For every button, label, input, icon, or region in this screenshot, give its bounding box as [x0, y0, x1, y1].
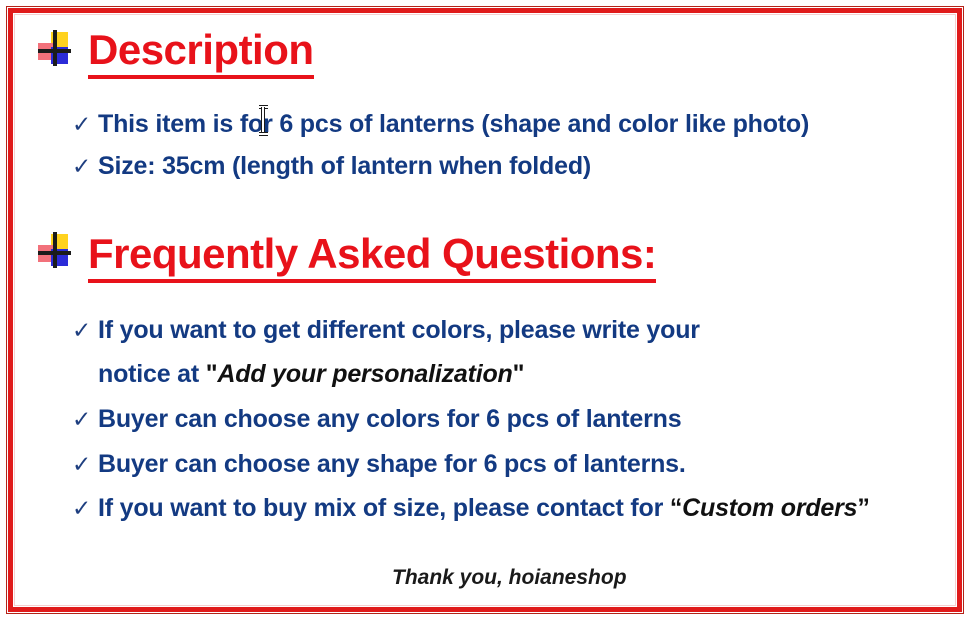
text-ibeam-cursor [259, 104, 268, 137]
faq-item-1-continuation-prefix: notice at [98, 360, 206, 388]
cursor-bottom-cap [259, 133, 268, 135]
check-icon: ✓ [72, 451, 98, 478]
faq-item-1-continuation: notice at "Add your personalization" [72, 360, 524, 389]
description-item-1-text: This item is for 6 pcs of lanterns (shap… [98, 110, 809, 138]
faq-item-1-emphasis: Add your personalization [217, 360, 512, 388]
description-item-2-text: Size: 35cm (length of lantern when folde… [98, 152, 591, 180]
faq-item-4-emphasis: Custom orders [682, 494, 857, 522]
check-icon: ✓ [72, 153, 98, 180]
description-heading-text: Description [88, 26, 314, 79]
description-heading: Description [88, 26, 314, 74]
check-icon: ✓ [72, 406, 98, 433]
faq-item-2: ✓Buyer can choose any colors for 6 pcs o… [72, 405, 681, 434]
description-item-1: ✓This item is for 6 pcs of lanterns (sha… [72, 110, 809, 139]
faq-heading: Frequently Asked Questions: [88, 230, 656, 278]
quote-open: “ [670, 494, 682, 522]
check-icon: ✓ [72, 495, 98, 522]
faq-heading-text: Frequently Asked Questions: [88, 230, 656, 283]
pinwheel-vertical-bar [53, 232, 57, 268]
faq-item-3: ✓Buyer can choose any shape for 6 pcs of… [72, 450, 686, 479]
cursor-beam [262, 107, 264, 134]
pinwheel-icon-faq [36, 232, 72, 268]
quote-open: " [206, 360, 218, 388]
faq-item-2-text: Buyer can choose any colors for 6 pcs of… [98, 405, 681, 433]
listing-description-image: Description ✓This item is for 6 pcs of l… [0, 0, 970, 620]
content-area: Description ✓This item is for 6 pcs of l… [0, 0, 970, 620]
quote-close: " [513, 360, 525, 388]
pinwheel-vertical-bar [53, 30, 57, 66]
pinwheel-horizontal-bar [38, 251, 71, 255]
faq-item-4-text: If you want to buy mix of size, please c… [98, 494, 670, 522]
faq-item-4: ✓If you want to buy mix of size, please … [72, 494, 870, 523]
faq-item-1: ✓If you want to get different colors, pl… [72, 316, 700, 345]
faq-item-3-text: Buyer can choose any shape for 6 pcs of … [98, 450, 686, 478]
check-icon: ✓ [72, 111, 98, 138]
footer-thank-you: Thank you, hoianeshop [392, 566, 627, 590]
pinwheel-horizontal-bar [38, 49, 71, 53]
check-icon: ✓ [72, 317, 98, 344]
description-item-2: ✓Size: 35cm (length of lantern when fold… [72, 152, 591, 181]
faq-item-1-text: If you want to get different colors, ple… [98, 316, 700, 344]
quote-close: ” [857, 494, 869, 522]
pinwheel-icon-description [36, 30, 72, 66]
